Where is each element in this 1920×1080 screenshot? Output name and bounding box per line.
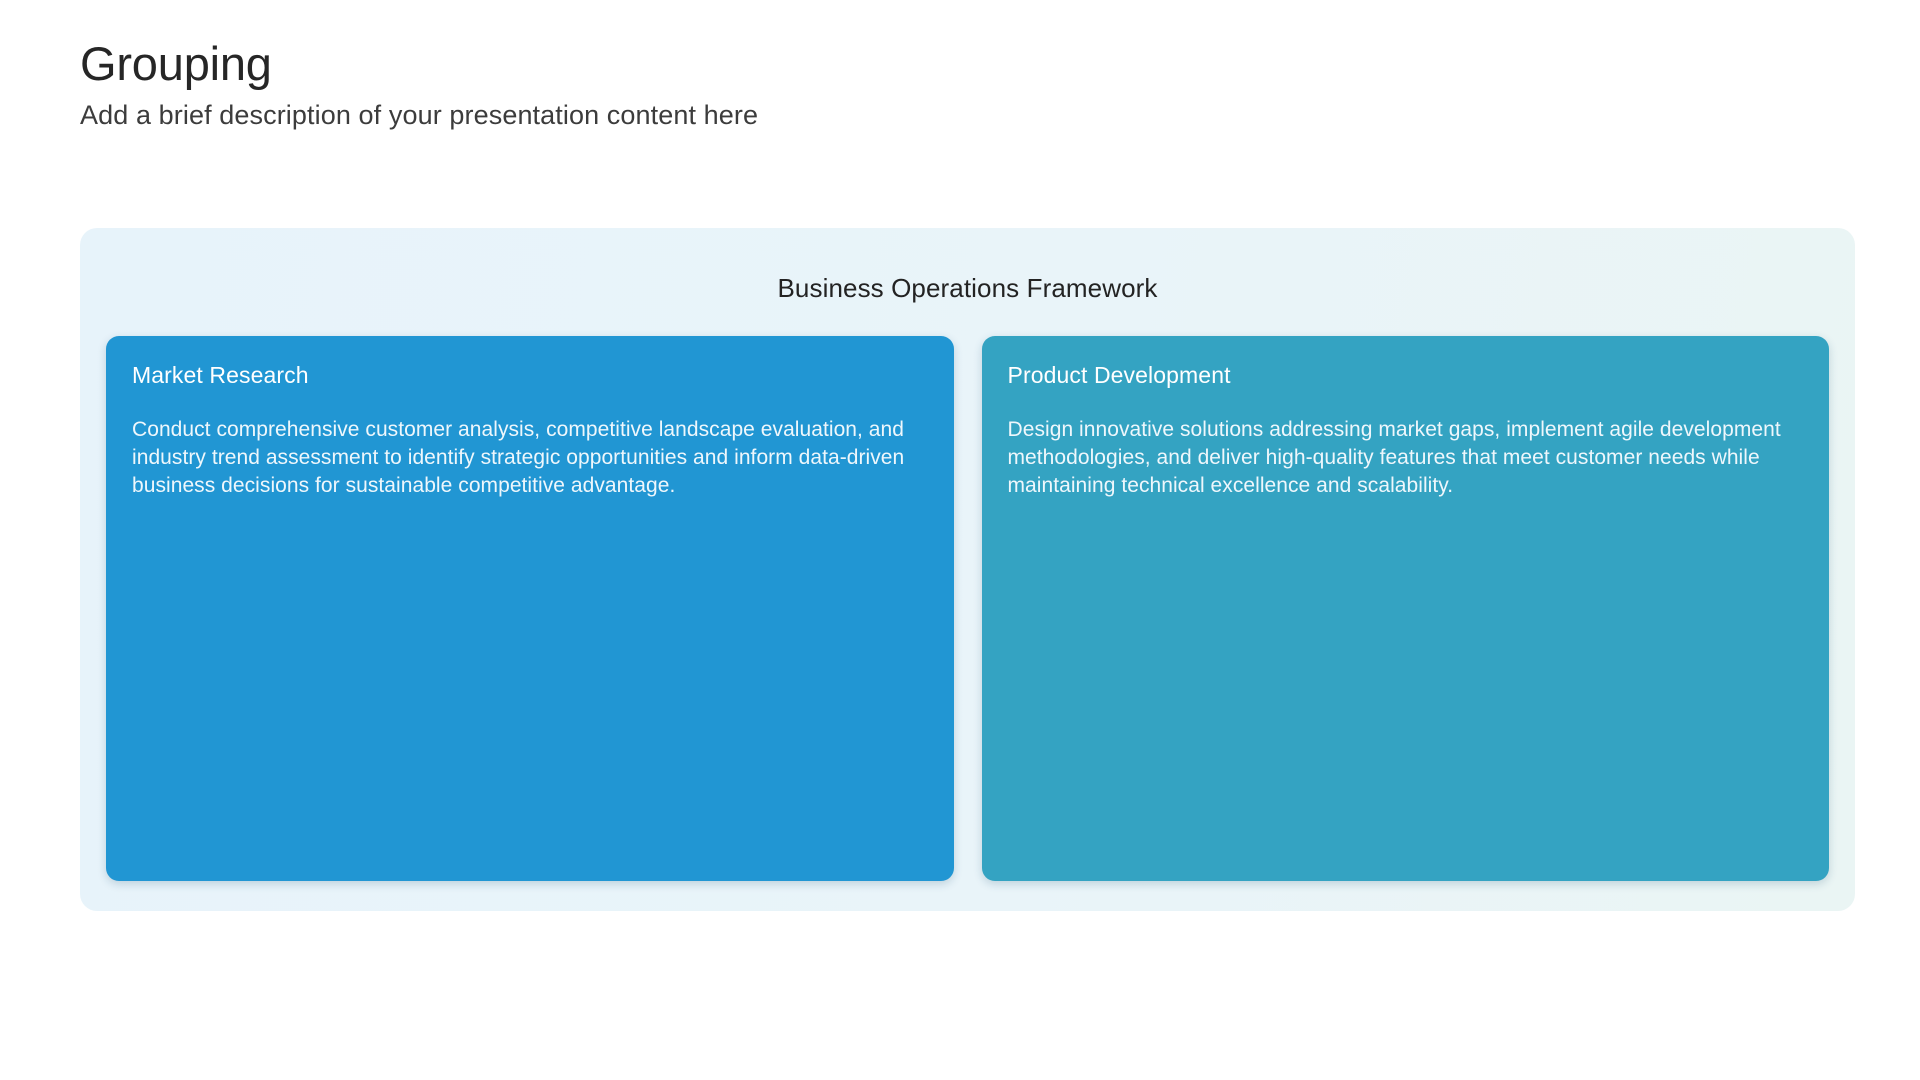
card-title: Product Development bbox=[1008, 362, 1802, 390]
slide-canvas: Grouping Add a brief description of your… bbox=[0, 0, 1920, 1080]
page-subtitle: Add a brief description of your presenta… bbox=[80, 99, 1780, 131]
group-card-product-development[interactable]: Product Development Design innovative so… bbox=[982, 336, 1830, 881]
group-card-market-research[interactable]: Market Research Conduct comprehensive cu… bbox=[106, 336, 954, 881]
card-body: Conduct comprehensive customer analysis,… bbox=[132, 416, 926, 500]
cards-row: Market Research Conduct comprehensive cu… bbox=[106, 336, 1829, 881]
group-container: Business Operations Framework Market Res… bbox=[80, 228, 1855, 911]
page-title: Grouping bbox=[80, 38, 1780, 91]
slide-header: Grouping Add a brief description of your… bbox=[80, 38, 1780, 131]
card-body: Design innovative solutions addressing m… bbox=[1008, 416, 1802, 500]
group-title: Business Operations Framework bbox=[106, 256, 1829, 304]
card-title: Market Research bbox=[132, 362, 926, 390]
